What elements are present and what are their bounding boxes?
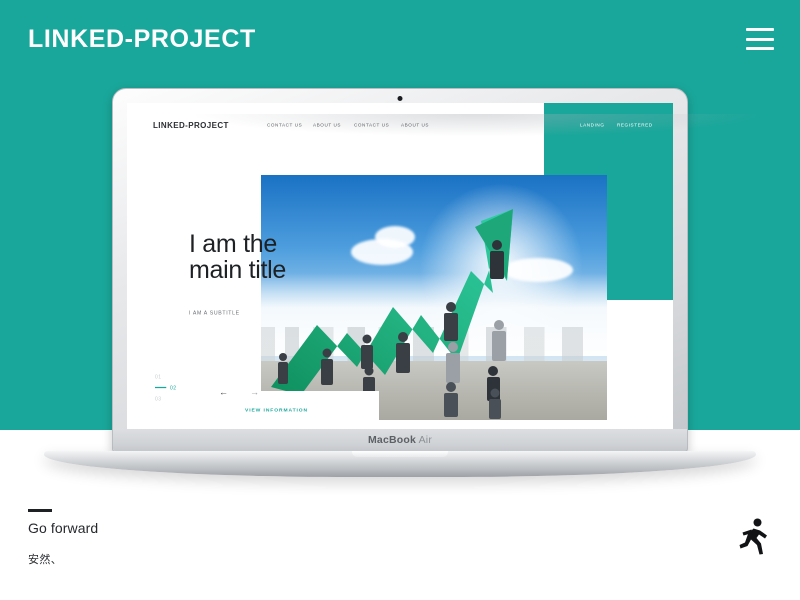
arrow-left-icon[interactable]: ← — [219, 388, 228, 397]
hamburger-icon[interactable] — [746, 28, 774, 50]
laptop-model-bold: MacBook — [368, 434, 416, 446]
inner-nav-link-registered[interactable]: REGISTERED — [617, 122, 653, 127]
view-information-button[interactable]: VIEW INFORMATION — [245, 407, 308, 412]
page-title: LINKED-PROJECT — [28, 25, 256, 54]
slider-index-list: 01 02 03 — [155, 374, 172, 401]
laptop-notch — [352, 451, 448, 457]
laptop-model-label: MacBook Air — [368, 434, 432, 446]
laptop-screen: LINKED-PROJECT CONTACT US ABOUT US CONTA… — [127, 103, 673, 429]
inner-nav-links: CONTACT US ABOUT US CONTACT US ABOUT US — [267, 123, 423, 127]
inner-nav-link-1[interactable]: CONTACT US — [267, 122, 302, 127]
footer: Go forward 安然、 — [0, 495, 800, 600]
running-person-icon — [736, 517, 770, 557]
hero-subtitle: I AM A SUBTITLE — [189, 309, 397, 316]
inner-nav-link-landing[interactable]: LANDING — [580, 122, 605, 127]
hero-title-line1: I am the — [189, 231, 349, 257]
slider-arrows: ← → — [219, 388, 259, 397]
slider-index-02[interactable]: 02 — [155, 384, 177, 390]
hero-title-line2: main title — [189, 257, 349, 283]
hamburger-bar-3 — [746, 47, 774, 50]
laptop-mockup: LINKED-PROJECT CONTACT US ABOUT US CONTA… — [112, 88, 688, 477]
laptop-model-light: Air — [419, 434, 432, 446]
page-root: LINKED-PROJECT LINKED-PROJECT CONTACT US… — [0, 0, 800, 600]
hamburger-bar-2 — [746, 38, 774, 41]
laptop-base — [44, 451, 756, 477]
arrow-right-icon[interactable]: → — [250, 388, 259, 397]
camera-dot-icon — [398, 96, 403, 101]
laptop-lid: LINKED-PROJECT CONTACT US ABOUT US CONTA… — [112, 88, 688, 452]
inner-site-nav: LINKED-PROJECT CONTACT US ABOUT US CONTA… — [127, 103, 673, 147]
inner-nav-link-2[interactable]: ABOUT US — [313, 122, 341, 127]
hero-cta-panel: VIEW INFORMATION — [167, 391, 379, 429]
inner-site-logo: LINKED-PROJECT — [153, 121, 229, 130]
footer-divider — [28, 509, 52, 512]
inner-nav-link-3[interactable]: CONTACT US — [354, 122, 389, 127]
site-header: LINKED-PROJECT — [0, 0, 800, 78]
footer-heading: Go forward — [28, 520, 98, 536]
inner-nav-links-right: LANDING REGISTERED — [580, 123, 645, 127]
hero-copy: I am the main title I AM A SUBTITLE — [189, 231, 349, 315]
inner-nav-link-4[interactable]: ABOUT US — [401, 122, 429, 127]
slider-index-03[interactable]: 03 — [155, 395, 177, 401]
footer-subtext: 安然、 — [28, 551, 62, 567]
laptop-brand-strip: MacBook Air — [113, 429, 687, 451]
hamburger-bar-1 — [746, 28, 774, 31]
slider-index-01[interactable]: 01 — [155, 373, 177, 379]
